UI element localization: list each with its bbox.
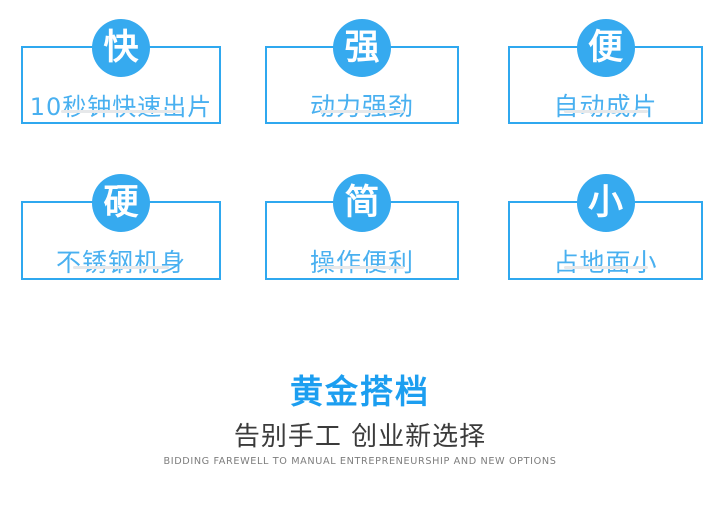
footer-slogan-block: 黄金搭档 告别手工 创业新选择 BIDDING FAREWELL TO MANU… xyxy=(0,360,720,468)
feature-label-powerful: 动力强劲 xyxy=(267,87,457,123)
badge-icon-convenient: 便 xyxy=(577,19,635,77)
badge-icon-durable: 硬 xyxy=(92,174,150,232)
feature-label-compact: 占地面小 xyxy=(510,243,701,279)
footer-english-caption: BIDDING FAREWELL TO MANUAL ENTREPRENEURS… xyxy=(0,455,720,468)
feature-card-fast[interactable]: 快 10秒钟快速出片 xyxy=(21,46,221,124)
divider-rule xyxy=(564,110,648,113)
promo-banner: 快 10秒钟快速出片 强 动力强劲 便 自动成片 硬 不锈钢机身 简 操作便利 … xyxy=(0,0,720,512)
feature-label-fast: 10秒钟快速出片 xyxy=(23,87,219,122)
badge-icon-fast: 快 xyxy=(92,19,150,77)
feature-card-powerful[interactable]: 强 动力强劲 xyxy=(265,46,459,124)
feature-card-simple[interactable]: 简 操作便利 xyxy=(265,201,459,280)
divider-rule xyxy=(320,266,404,269)
feature-label-durable: 不锈钢机身 xyxy=(23,243,219,279)
feature-card-durable[interactable]: 硬 不锈钢机身 xyxy=(21,201,221,280)
badge-icon-compact: 小 xyxy=(577,174,635,232)
divider-rule xyxy=(564,266,648,269)
divider-rule xyxy=(61,110,181,113)
badge-icon-powerful: 强 xyxy=(333,19,391,77)
badge-icon-simple: 简 xyxy=(333,174,391,232)
footer-subheadline: 告别手工 创业新选择 xyxy=(0,420,720,454)
feature-card-convenient[interactable]: 便 自动成片 xyxy=(508,46,703,124)
divider-rule xyxy=(73,266,169,269)
footer-headline: 黄金搭档 xyxy=(0,372,720,412)
feature-label-simple: 操作便利 xyxy=(267,243,457,279)
feature-card-compact[interactable]: 小 占地面小 xyxy=(508,201,703,280)
divider-rule xyxy=(320,110,404,113)
feature-label-convenient: 自动成片 xyxy=(510,87,701,123)
